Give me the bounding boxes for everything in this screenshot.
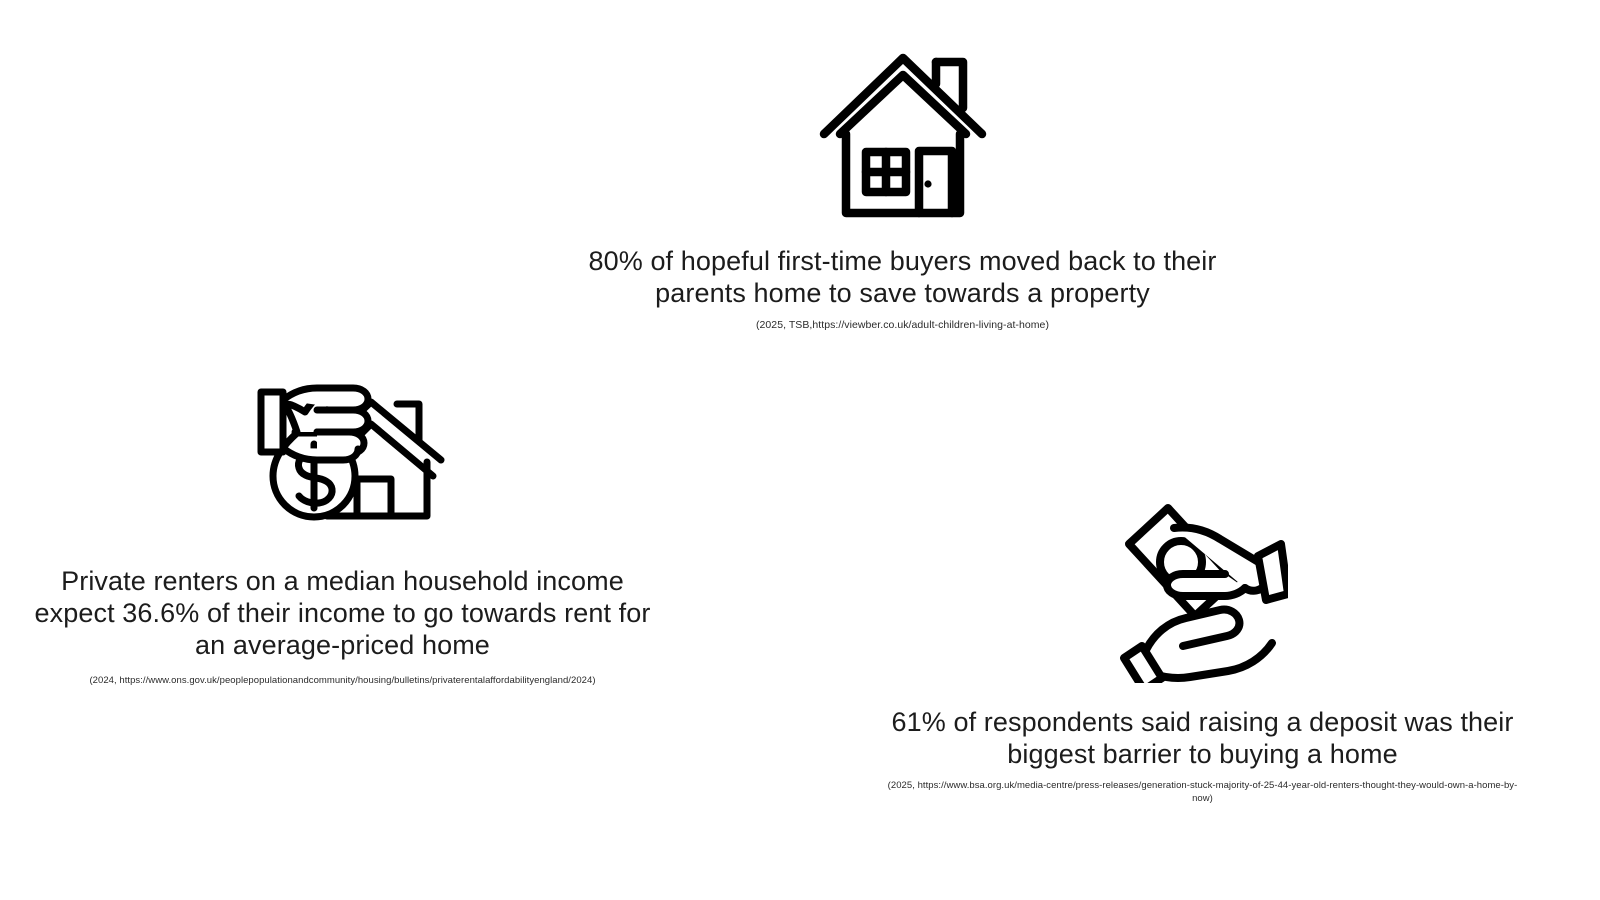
stat-block-rent-share: Private renters on a median household in… — [20, 336, 665, 687]
stat-source-parents-home: (2025, TSB,https://viewber.co.uk/adult-c… — [545, 319, 1260, 333]
stat-headline-parents-home: 80% of hopeful first-time buyers moved b… — [545, 246, 1260, 310]
stat-block-parents-home: 80% of hopeful first-time buyers moved b… — [545, 48, 1260, 333]
stat-headline-deposit-barrier: 61% of respondents said raising a deposi… — [875, 707, 1530, 771]
stat-headline-rent-share: Private renters on a median household in… — [20, 566, 665, 662]
stat-source-rent-share: (2024, https://www.ons.gov.uk/peoplepopu… — [33, 675, 653, 688]
house-icon — [818, 48, 988, 220]
hands-exchanging-money-icon — [1118, 498, 1288, 683]
stat-source-deposit-barrier: (2025, https://www.bsa.org.uk/media-cent… — [880, 779, 1525, 807]
hand-holding-money-bag-house-icon — [237, 336, 449, 536]
infographic-canvas: 80% of hopeful first-time buyers moved b… — [0, 0, 1600, 900]
stat-block-deposit-barrier: 61% of respondents said raising a deposi… — [875, 498, 1530, 806]
